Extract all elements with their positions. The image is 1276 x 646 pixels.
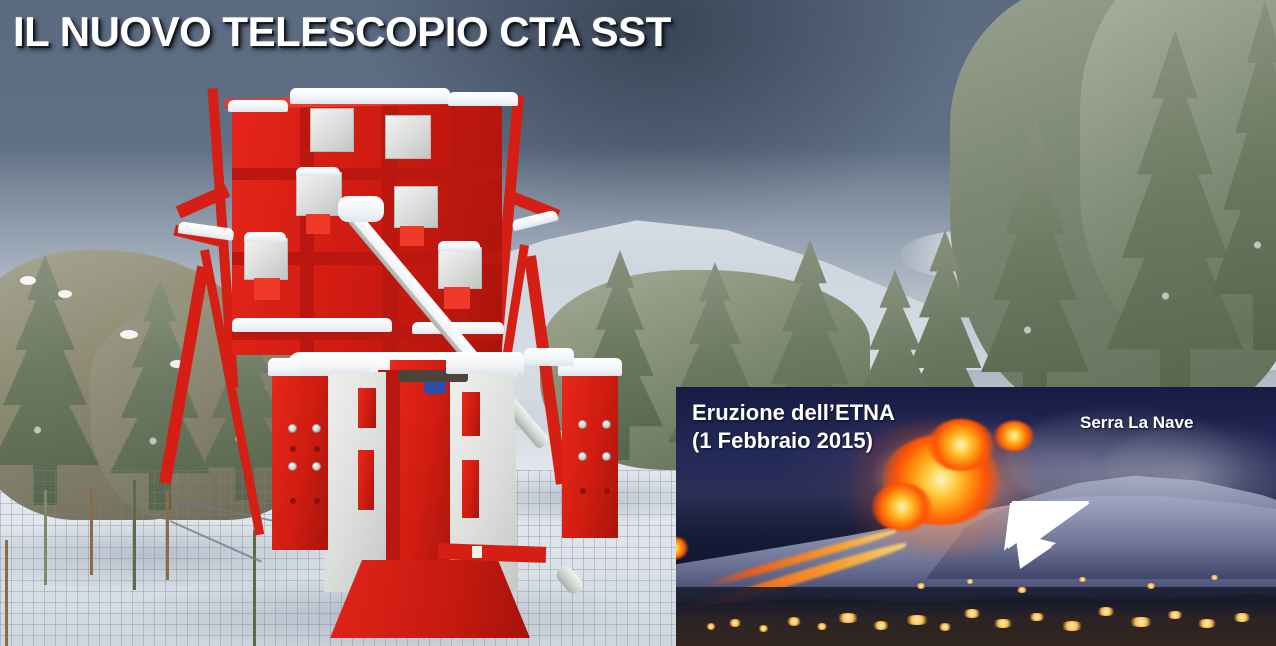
bolt [290,498,296,504]
city-light [962,609,982,618]
city-light [992,619,1014,628]
city-light [728,619,742,627]
bolt [288,462,297,471]
panel-cutout [358,450,374,510]
bolt [578,420,587,429]
caption-line-1: Eruzione dell’ETNA [692,400,895,425]
city-light [1146,583,1156,589]
snow-on-base [524,348,574,366]
bolt [602,420,611,429]
frame-leg [159,266,209,485]
slide-canvas: IL NUOVO TELESCOPIO CTA SST [0,0,1276,646]
city-light [1196,619,1218,628]
city-light [816,623,828,630]
bolt [580,488,586,494]
mirror-facet-box [296,172,342,216]
bolt [314,498,320,504]
pedestal-skirt [330,560,530,638]
mirror-facet-box [438,247,482,289]
city-light [1232,613,1252,622]
snow-on-base [446,352,524,374]
city-light [966,579,974,584]
city-light [706,623,716,630]
city-light [786,617,802,626]
panel-cutout [462,392,480,436]
bolt [602,452,611,461]
city-light [904,615,930,625]
city-light [938,623,952,631]
etna-inset-photo: Eruzione dell’ETNA (1 Febbraio 2015) Ser… [676,387,1276,646]
facet-mount [306,214,330,234]
mast-end-cap [553,563,585,597]
snow-on-frame [296,167,340,176]
city-light [1128,617,1154,627]
facet-mount [444,287,470,309]
bolt [578,452,587,461]
bolt [290,446,296,452]
city-light [1210,575,1219,580]
arrow-down-left-icon [994,499,1094,571]
snow-on-base [300,354,370,374]
support-column-left [272,370,328,550]
bolt [312,424,321,433]
mirror-facet-box [385,115,431,159]
city-light [1078,577,1087,582]
frame-rib [452,100,466,355]
panel-cutout [358,388,376,428]
snow-on-frame [244,232,286,242]
snow-on-mast [338,196,384,222]
slide-title: IL NUOVO TELESCOPIO CTA SST [13,8,671,56]
snow-on-frame [448,92,518,106]
snow-on-frame [438,241,480,251]
city-light [872,621,890,630]
base-panel [324,372,386,592]
lava-flow-tip [676,537,688,559]
city-glow [676,601,1276,646]
facet-mount [254,278,280,300]
city-light [1016,587,1028,593]
city-light [1028,613,1046,621]
panel-cutout [462,460,479,518]
facet-mount [400,226,424,246]
snow-on-frame [232,318,392,332]
serra-la-nave-label: Serra La Nave [1080,413,1193,433]
bolt [604,488,610,494]
bolt [288,424,297,433]
caption-line-2: (1 Febbraio 2015) [692,428,873,453]
lava-fountain [928,419,994,471]
city-light [1166,611,1184,619]
bolt [312,462,321,471]
city-light [836,613,860,623]
city-light [758,625,769,632]
lava-spatter [994,421,1034,451]
frame-rib [232,168,502,180]
city-light [1096,607,1116,616]
inset-caption: Eruzione dell’ETNA (1 Febbraio 2015) [692,399,895,455]
mirror-facet-box [394,186,438,228]
lava-vent [872,483,932,531]
bracket-marker [472,546,482,558]
snow-on-frame [290,88,450,104]
mirror-facet-box [244,238,288,280]
city-light [916,583,926,589]
snow-on-frame [228,100,288,112]
bolt [314,446,320,452]
city-light [1060,621,1084,631]
mirror-facet-box [310,108,354,152]
